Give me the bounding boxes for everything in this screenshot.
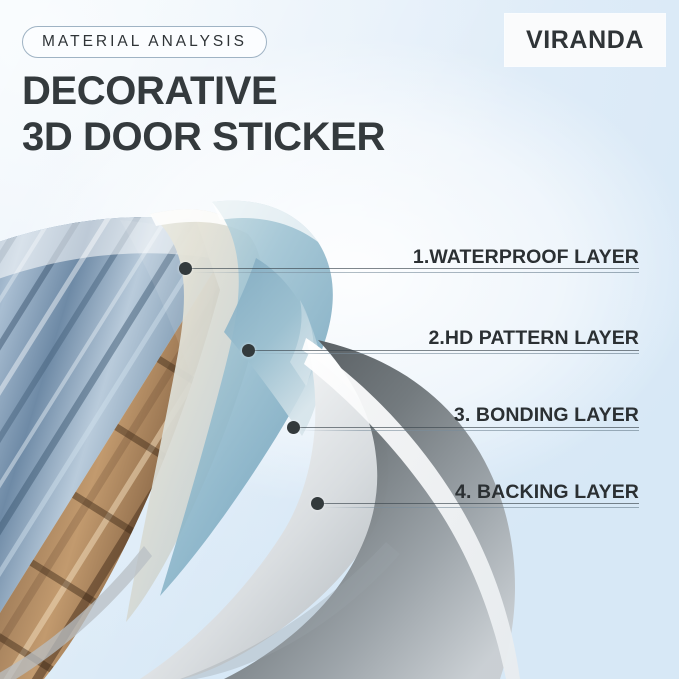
page-title: DECORATIVE 3D DOOR STICKER [22,68,385,160]
callout-leader-1 [191,268,639,269]
callout-dot-icon-1 [179,262,192,275]
callout-leader-3 [299,427,639,428]
poster-canvas: MATERIAL ANALYSIS DECORATIVE 3D DOOR STI… [0,0,679,679]
callout-rule-3 [299,430,639,431]
callout-leader-4 [323,503,639,504]
callout-label-text-3: 3. BONDING LAYER [454,404,639,427]
callout-label-text-1: 1.WATERPROOF LAYER [413,246,639,269]
callout-dot-icon-4 [311,497,324,510]
callout-label-text-2: 2.HD PATTERN LAYER [428,327,639,350]
callout-rule-2 [254,353,639,354]
brand-logo: VIRANDA [505,14,665,66]
page-title-line2: 3D DOOR STICKER [22,114,385,160]
eyebrow-label: MATERIAL ANALYSIS [42,33,247,51]
callout-rule-4 [323,507,639,508]
callout-leader-2 [254,350,639,351]
callout-label-3: 3. BONDING LAYER [454,404,639,427]
callout-label-4: 4. BACKING LAYER [455,481,639,504]
callout-dot-icon-3 [287,421,300,434]
eyebrow-badge: MATERIAL ANALYSIS [22,26,267,58]
callout-dot-icon-2 [242,344,255,357]
callout-label-1: 1.WATERPROOF LAYER [413,246,639,269]
callout-label-text-4: 4. BACKING LAYER [455,481,639,504]
callout-rule-1 [191,272,639,273]
page-title-line1: DECORATIVE [22,69,277,113]
brand-name: VIRANDA [526,26,644,55]
callout-label-2: 2.HD PATTERN LAYER [428,327,639,350]
